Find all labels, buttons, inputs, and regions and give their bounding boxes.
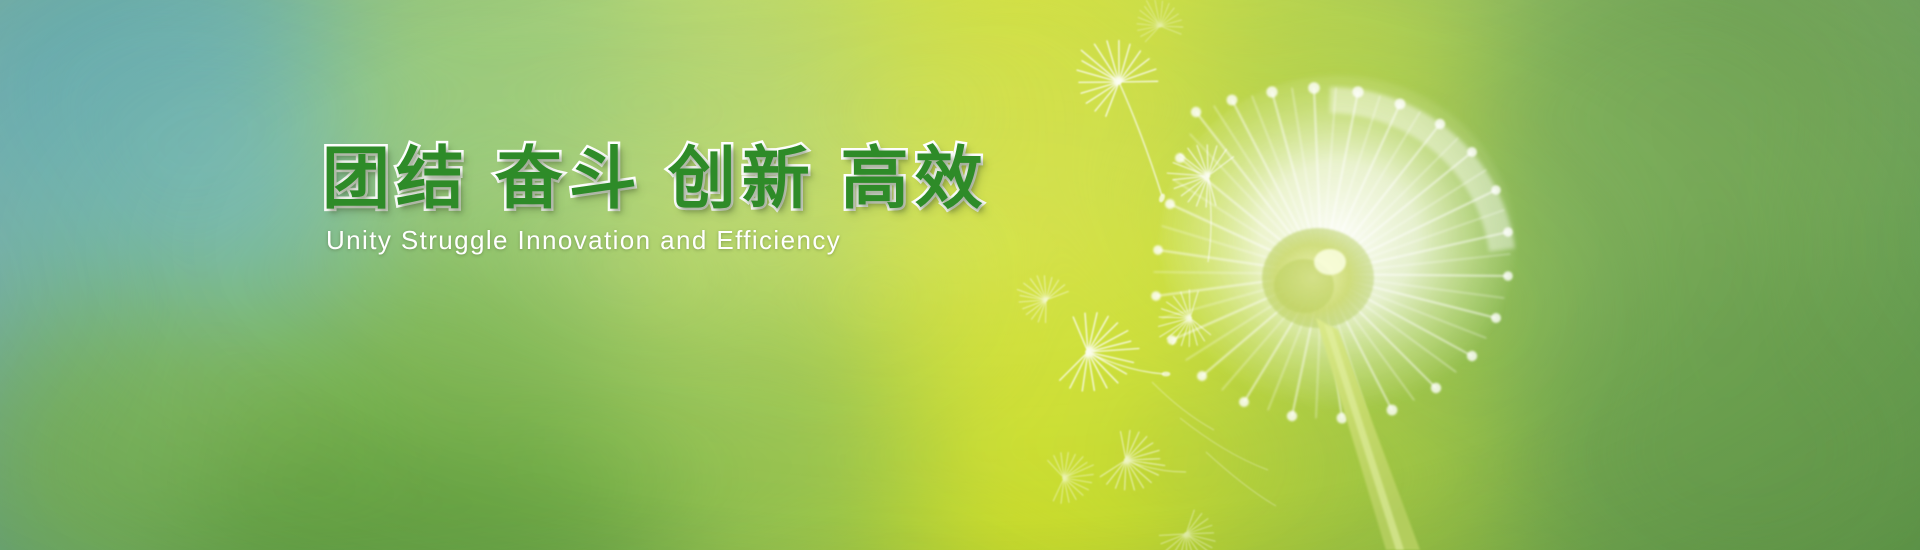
bokeh-blob: [250, 250, 650, 550]
floating-dandelion-seed: [1069, 33, 1166, 203]
bokeh-blob: [1520, 260, 1920, 550]
dandelion-artwork: [0, 0, 1920, 550]
bokeh-blob: [0, 300, 380, 550]
dandelion-stem: [1316, 318, 1420, 550]
dandelion-seedhead: [1151, 75, 1516, 423]
bokeh-blob: [1150, 330, 1510, 550]
bokeh-blob: [170, 430, 690, 550]
floating-dandelion-seed: [1149, 280, 1227, 359]
bokeh-blob: [40, 60, 370, 360]
background-gradient: [0, 0, 1920, 550]
banner: 团结 奋斗 创新 高效 Unity Struggle Innovation an…: [0, 0, 1920, 550]
bokeh-blob: [1180, 0, 1500, 260]
background-bokeh-blobs: [0, 0, 1920, 550]
floating-dandelion-seed: [1161, 133, 1248, 262]
slogan-english: Unity Struggle Innovation and Efficiency: [326, 227, 1022, 253]
floating-dandelion-seed: [1127, 0, 1192, 56]
background-vignette: [0, 0, 1920, 550]
floating-dandelion-seed: [1035, 296, 1170, 408]
bokeh-blob: [560, 300, 940, 550]
floating-dandelion-seed: [1016, 272, 1073, 326]
slogan-chinese: 团结 奋斗 创新 高效: [322, 145, 1022, 213]
bokeh-blob: [900, 240, 1300, 550]
floating-dandelion-seed: [1030, 441, 1102, 514]
floating-dandelion-seed: [1156, 505, 1220, 550]
floating-dandelion-seed: [1088, 421, 1186, 500]
bokeh-blob: [1480, 0, 1900, 310]
bokeh-blob: [0, 0, 370, 250]
floating-seeds: [1016, 0, 1276, 550]
slogan-block: 团结 奋斗 创新 高效 Unity Struggle Innovation an…: [322, 145, 1022, 253]
